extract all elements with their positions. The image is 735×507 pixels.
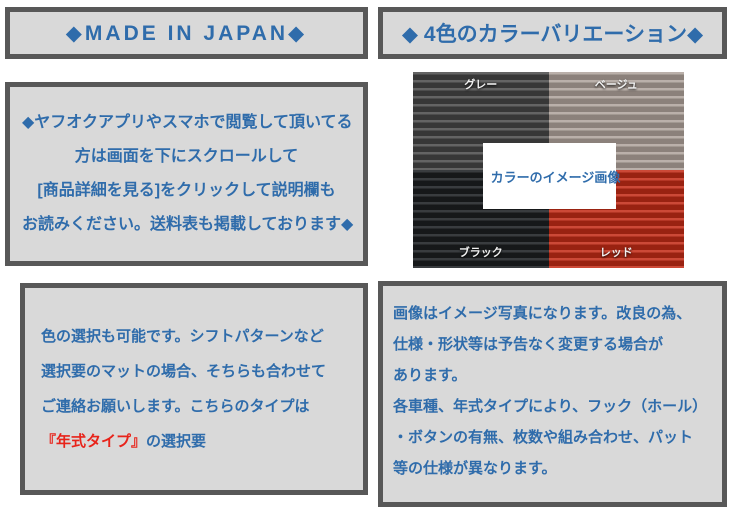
banner-color-variation-text: ◆ 4色のカラーバリエーション◆ [402,18,703,48]
notice-color-select-line-3: ご連絡お願いします。こちらのタイプは [41,389,347,424]
notice-scroll-line-4: お読みください。送料表も掲載しております◆ [22,208,351,242]
notice-color-select-line-2: 選択要のマットの場合、そちらも合わせて [41,354,347,389]
notice-color-selection: 色の選択も可能です。シフトパターンなど 選択要のマットの場合、そちらも合わせて … [20,283,368,495]
notice-scroll-instructions: ◆ヤフオクアプリやスマホで閲覧して頂いてる 方は画面を下にスクロールして [商品… [5,82,368,266]
notice-scroll-line-2: 方は画面を下にスクロールして [22,140,351,174]
swatch-black-label: ブラック [413,244,549,260]
color-photo-caption-box: カラーのイメージ画像 [483,143,616,209]
notice-scroll-line-3: [商品詳細を見る]をクリックして説明欄も [22,174,351,208]
swatch-gray-label: グレー [413,76,549,92]
notice-spec-change-line-1: 画像はイメージ写真になります。改良の為、 [393,298,712,329]
notice-spec-change-line-2: 仕様・形状等は予告なく変更する場合が [393,329,712,360]
notice-spec-change-line-5: ・ボタンの有無、枚数や組み合わせ、パット [393,422,712,453]
notice-scroll-line-1: ◆ヤフオクアプリやスマホで閲覧して頂いてる [22,106,351,140]
notice-spec-change-disclaimer: 画像はイメージ写真になります。改良の為、 仕様・形状等は予告なく変更する場合が … [378,281,727,507]
swatch-red-label: レッド [549,244,685,260]
notice-color-select-line-4: 『年式タイプ』の選択要 [41,424,347,459]
color-photo-caption-text: カラーのイメージ画像 [491,167,621,186]
notice-spec-change-line-4: 各車種、年式タイプにより、フック（ホール） [393,391,712,422]
banner-made-in-japan-text: ◆MADE IN JAPAN◆ [66,21,307,46]
swatch-beige-label: ベージュ [549,76,685,92]
color-variation-photo: グレー ベージュ ブラック レッド カラーのイメージ画像 [413,72,684,268]
year-type-highlight: 『年式タイプ』 [41,433,146,450]
year-type-rest: の選択要 [146,433,206,450]
notice-spec-change-line-3: あります。 [393,360,712,391]
banner-color-variation: ◆ 4色のカラーバリエーション◆ [378,7,727,59]
notice-color-select-line-1: 色の選択も可能です。シフトパターンなど [41,319,347,354]
notice-spec-change-line-6: 等の仕様が異なります。 [393,453,712,484]
banner-made-in-japan: ◆MADE IN JAPAN◆ [5,7,368,59]
